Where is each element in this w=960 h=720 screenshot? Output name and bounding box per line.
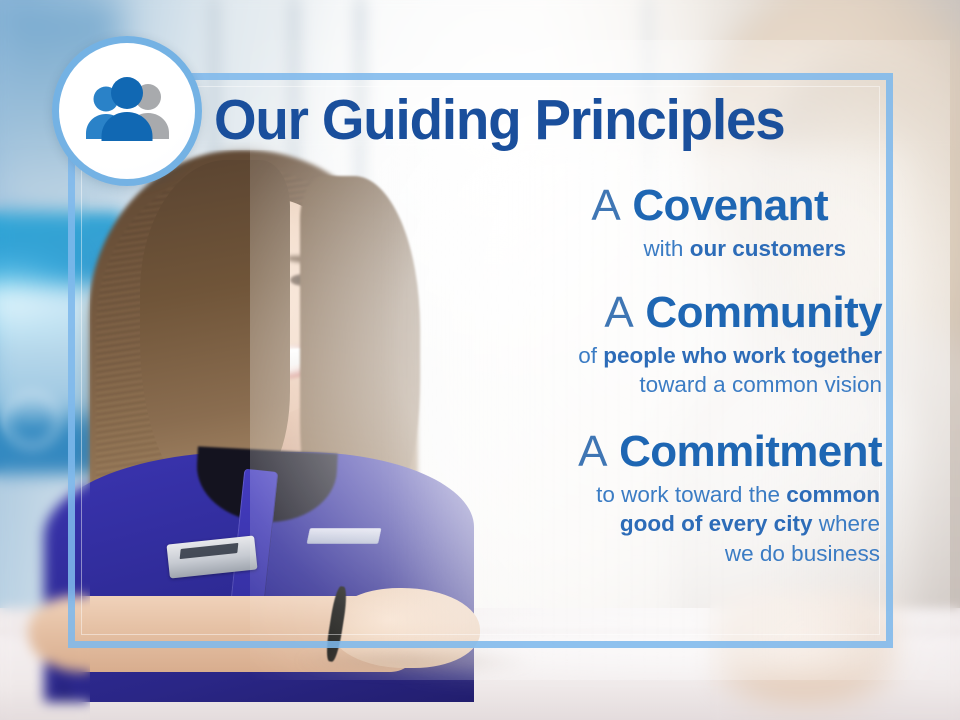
principle-title-covenant: A Covenant [230,182,828,230]
principle-subline: toward a common vision [230,370,882,400]
sub-regular: toward a common vision [639,372,882,397]
principle-title-community: A Community [230,289,882,337]
sub-regular: with [643,236,689,261]
principle-keyword: Covenant [632,181,828,230]
principle-keyword: Commitment [619,427,882,476]
principle-subline: of people who work together [230,341,882,371]
people-group-icon [79,75,175,147]
principle-subline: good of every city where [230,509,880,539]
principle-subline: with our customers [230,234,846,264]
principle-article: A [578,427,607,476]
sub-regular: where [812,511,880,536]
principle-subtext-covenant: with our customers [230,234,846,264]
principle-block-covenant: A Covenant with our customers [230,182,858,263]
principle-block-community: A Community of people who work together … [230,289,882,400]
guiding-principles-graphic: Our Guiding Principles A Covenant with o… [0,0,960,720]
sub-bold: good of every city [620,511,813,536]
sub-bold: our customers [690,236,846,261]
sub-bold: common [786,482,880,507]
principle-subline: to work toward the common [230,480,880,510]
hand-shadow [300,648,530,674]
principle-subline: we do business [230,539,880,569]
principle-keyword: Community [645,288,882,337]
principle-subtext-community: of people who work together toward a com… [230,341,882,400]
principle-article: A [604,288,633,337]
sub-regular: to work toward the [596,482,786,507]
sub-regular: of [578,343,603,368]
principle-subtext-commitment: to work toward the common good of every … [230,480,880,569]
principles-list: A Covenant with our customers A Communit… [230,182,882,575]
sub-bold: people who work together [603,343,882,368]
principle-article: A [591,181,620,230]
people-group-badge [52,36,202,186]
page-title: Our Guiding Principles [214,92,886,149]
principle-block-commitment: A Commitment to work toward the common g… [230,428,882,569]
sub-regular: we do business [725,541,880,566]
principle-title-commitment: A Commitment [230,428,882,476]
